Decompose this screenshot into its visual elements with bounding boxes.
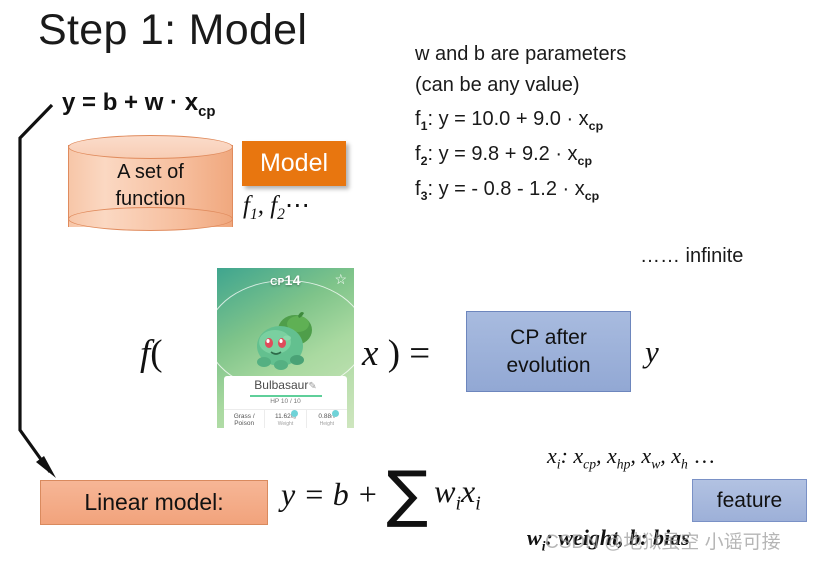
sigma-icon: ∑ bbox=[386, 470, 428, 518]
function-list: f1, f2⋯ bbox=[243, 190, 311, 224]
pokemon-hp-label: HP 10 / 10 bbox=[224, 398, 347, 405]
pokemon-stat-type-value: Grass / Poison bbox=[224, 413, 264, 427]
pokemon-stat-height-number: 0.88 bbox=[318, 413, 331, 420]
cp-box-line2: evolution bbox=[467, 352, 630, 380]
linear-model-box: Linear model: bbox=[40, 480, 268, 525]
function-example-1: f1: y = 10.0 + 9.0 · xcp bbox=[415, 108, 603, 133]
pokemon-stat-weight: 11.62kg Weight bbox=[264, 410, 305, 428]
pokemon-name-text: Bulbasaur bbox=[254, 378, 308, 392]
edit-pencil-icon: ✎ bbox=[308, 381, 316, 392]
weight-bias-text: : weight, b: bias bbox=[545, 525, 689, 550]
top-equation-subscript: cp bbox=[198, 104, 215, 120]
summation-equation-lhs: y = b + bbox=[281, 476, 378, 513]
function-example-3-sub: cp bbox=[585, 189, 599, 203]
pokemon-name: Bulbasaur✎ bbox=[224, 378, 347, 392]
feature-variable-list: xi: xcp, xhp, xw, xh … bbox=[547, 443, 715, 472]
star-icon: ☆ bbox=[334, 272, 347, 286]
pokemon-stat-weight-key: Weight bbox=[265, 421, 305, 427]
pokemon-stats-row: Grass / Poison Type 11.62kg Weight 0.88m… bbox=[224, 409, 347, 428]
summation-equation: y = b + ∑ wixi bbox=[281, 470, 481, 518]
function-notation-x: x bbox=[362, 333, 378, 374]
function-example-1-body: : y = 10.0 + 9.0 · x bbox=[427, 108, 588, 130]
cylinder-label-line2: function bbox=[68, 186, 233, 213]
model-box: Model bbox=[242, 141, 346, 186]
pokemon-cp-label: CP14 bbox=[217, 272, 354, 288]
feature-list-head: x bbox=[547, 443, 557, 468]
function-list-ellipsis: ⋯ bbox=[285, 192, 311, 219]
cylinder-label: A set of function bbox=[68, 159, 233, 213]
summation-term-x-sub: i bbox=[475, 492, 481, 514]
pokemon-stat-type: Grass / Poison Type bbox=[224, 410, 264, 428]
function-notation-open-paren: ( bbox=[150, 333, 162, 374]
cylinder-top-ellipse bbox=[68, 135, 233, 159]
infinite-label: …… infinite bbox=[640, 245, 743, 268]
feature-list-colon: : bbox=[561, 443, 574, 468]
pokemon-cp-value: 14 bbox=[285, 272, 301, 288]
function-list-separator: , bbox=[258, 192, 271, 219]
pokemon-stat-height: 0.88m Height bbox=[306, 410, 347, 428]
function-notation-close-paren-equals: ) = bbox=[378, 333, 430, 374]
function-notation-close: x ) = bbox=[362, 332, 430, 375]
slide-canvas: Step 1: Model y = b + w · xcp A set of f… bbox=[0, 0, 826, 563]
function-example-1-sub: cp bbox=[589, 119, 603, 133]
params-note-line1: w and b are parameters bbox=[415, 43, 626, 66]
pokemon-card-image: CP14 ☆ Bulbasaur✎ HP 10 / 10 bbox=[217, 268, 354, 428]
weight-bias-w: w bbox=[527, 525, 542, 550]
feature-list-ellipsis: … bbox=[688, 443, 716, 468]
summation-term-w: w bbox=[434, 473, 455, 509]
function-list-f1: f bbox=[243, 192, 250, 219]
cp-after-evolution-box: CP after evolution bbox=[466, 311, 631, 392]
function-list-f2-index: 2 bbox=[277, 206, 285, 223]
top-equation: y = b + w · xcp bbox=[62, 89, 215, 120]
pokemon-info-panel: Bulbasaur✎ HP 10 / 10 Grass / Poison Typ… bbox=[224, 376, 347, 428]
function-example-2-body: : y = 9.8 + 9.2 · x bbox=[427, 143, 577, 165]
pokemon-stat-weight-number: 11.62 bbox=[275, 413, 291, 420]
function-example-3-body: : y = - 0.8 - 1.2 · x bbox=[427, 178, 584, 200]
pokemon-cp-prefix: CP bbox=[270, 277, 285, 288]
cylinder-label-line1: A set of bbox=[68, 159, 233, 186]
function-example-2: f2: y = 9.8 + 9.2 · xcp bbox=[415, 143, 592, 168]
function-example-3: f3: y = - 0.8 - 1.2 · xcp bbox=[415, 178, 599, 203]
pokemon-stat-weight-value: 11.62kg bbox=[265, 413, 305, 420]
page-title: Step 1: Model bbox=[38, 6, 307, 55]
pokemon-stat-height-value: 0.88m bbox=[307, 413, 347, 420]
summation-term-x: x bbox=[461, 473, 475, 509]
feature-list-terms: xcp, xhp, xw, xh bbox=[573, 443, 687, 468]
weight-indicator-dot-icon bbox=[291, 410, 298, 417]
feature-box: feature bbox=[692, 479, 807, 522]
pokemon-stat-height-key: Height bbox=[307, 421, 347, 427]
function-set-cylinder: A set of function bbox=[68, 135, 233, 235]
pokemon-name-underline bbox=[250, 395, 322, 397]
function-list-f1-index: 1 bbox=[250, 206, 258, 223]
params-note-line2: (can be any value) bbox=[415, 74, 580, 97]
height-indicator-dot-icon bbox=[332, 410, 339, 417]
function-notation-open: f( bbox=[140, 332, 163, 375]
function-example-2-sub: cp bbox=[578, 154, 592, 168]
summation-term: wixi bbox=[434, 473, 481, 515]
cp-box-line1: CP after bbox=[467, 324, 630, 352]
top-equation-lhs: y = b + w · x bbox=[62, 89, 198, 116]
output-y-label: y bbox=[645, 334, 659, 370]
function-notation-f: f bbox=[140, 333, 150, 374]
weight-bias-legend: wi: weight, b: bias bbox=[527, 525, 690, 554]
bulbasaur-sprite-icon bbox=[251, 310, 321, 372]
